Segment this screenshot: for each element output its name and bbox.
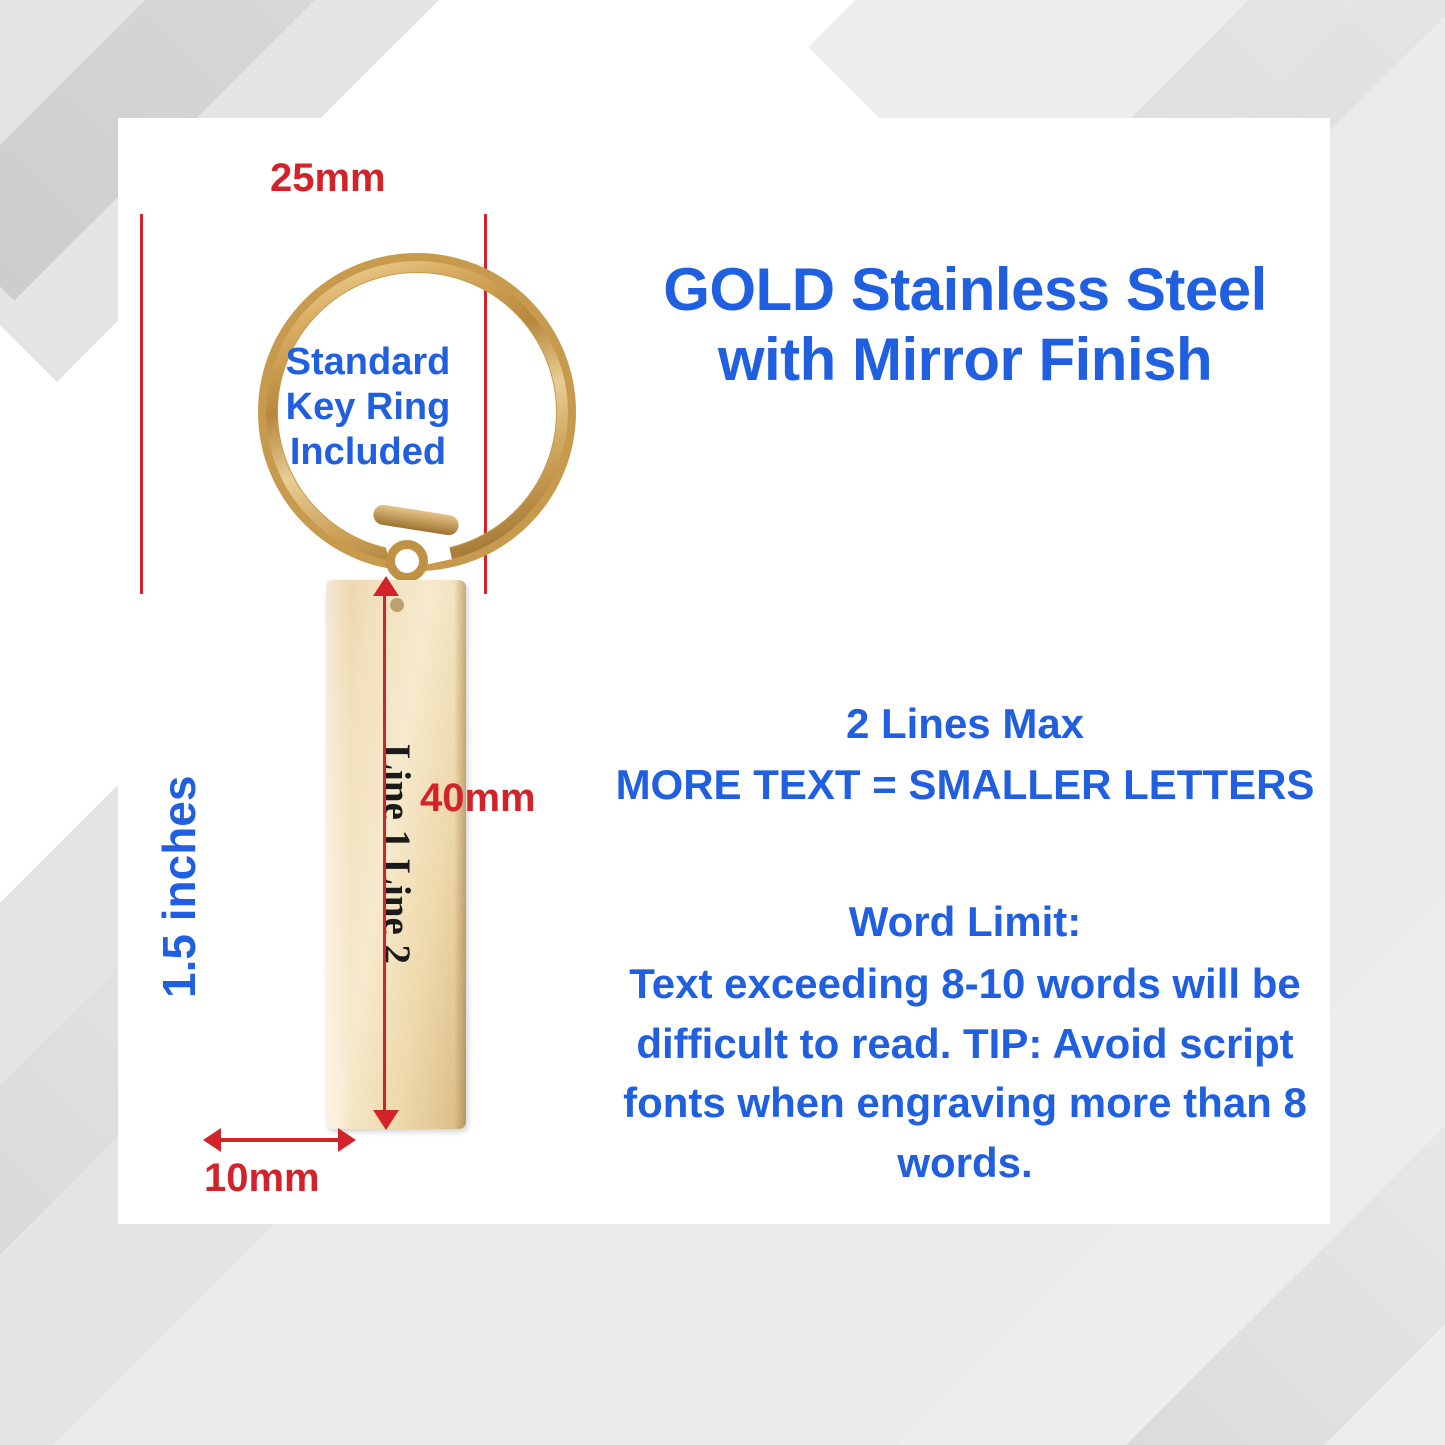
measure-arrow-left [203, 1128, 221, 1152]
measure-line-height [383, 588, 386, 1116]
measure-tick-left [140, 214, 143, 594]
headline-title: GOLD Stainless Steel with Mirror Finish [600, 255, 1330, 394]
measure-label-height: 40mm [420, 776, 536, 821]
measure-label-width-bottom: 10mm [204, 1156, 320, 1201]
measure-label-overall-height: 1.5 inches [152, 776, 206, 998]
more-text-note: MORE TEXT = SMALLER LETTERS [600, 755, 1330, 816]
engraving-preview-text: Line 1 Line 2 [375, 745, 417, 965]
measure-label-width-top: 25mm [270, 156, 386, 201]
product-illustration: 25mm Standard Key Ring Included Line 1 L… [118, 118, 663, 1224]
word-limit-body: Text exceeding 8-10 words will be diffic… [600, 954, 1330, 1193]
lines-max-note: 2 Lines Max [600, 694, 1330, 755]
product-infographic: 25mm Standard Key Ring Included Line 1 L… [0, 0, 1445, 1445]
measure-arrow-right [338, 1128, 356, 1152]
measure-arrow-up [373, 576, 399, 596]
measure-arrow-down [373, 1110, 399, 1130]
measure-line-width-bottom [216, 1138, 341, 1142]
word-limit-title: Word Limit: [600, 898, 1330, 946]
info-panel: GOLD Stainless Steel with Mirror Finish … [600, 160, 1330, 1220]
bar-engrave-area: Line 1 Line 2 [326, 580, 466, 1129]
key-ring-note: Standard Key Ring Included [208, 340, 528, 474]
engraved-bar: Line 1 Line 2 [326, 580, 466, 1129]
